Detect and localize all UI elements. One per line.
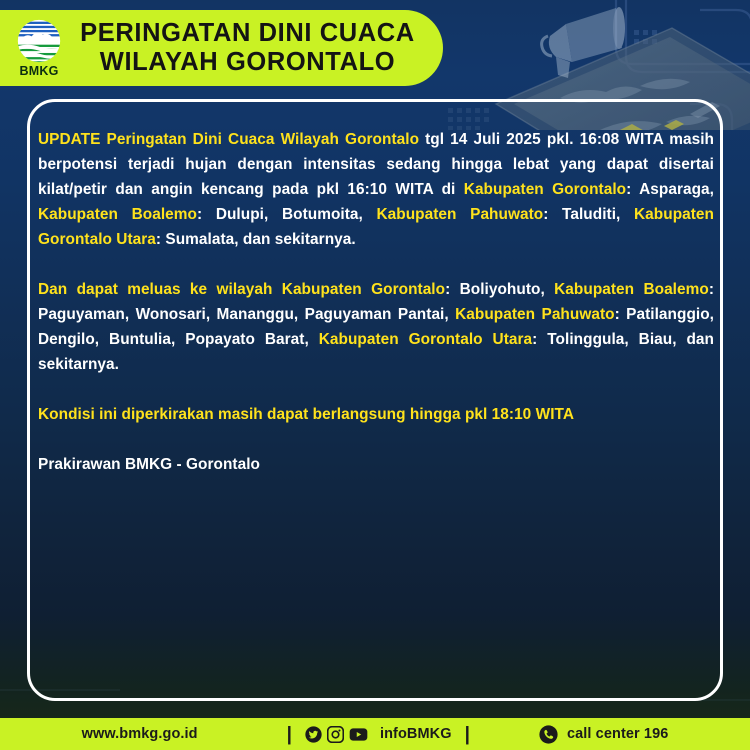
bmkg-logo-icon (16, 18, 62, 64)
body-text: : Asparaga, (626, 181, 714, 198)
weather-warning-poster: BMKG PERINGATAN DINI CUACA WILAYAH GORON… (0, 0, 750, 750)
warning-paragraph-2: Dan dapat meluas ke wilayah Kabupaten Go… (38, 277, 714, 377)
body-text: : Taluditi, (543, 206, 634, 223)
highlighted-text: Dan dapat meluas ke wilayah (38, 281, 282, 298)
footer-website-link[interactable]: www.bmkg.go.id (82, 726, 198, 742)
footer-separator-right: | (465, 725, 470, 744)
phone-icon (539, 725, 558, 744)
highlighted-text: Kabupaten Pahuwato (455, 306, 614, 323)
footer-social-group: infoBMKG (305, 726, 452, 743)
highlighted-text: Kondisi ini diperkirakan masih dapat ber… (38, 406, 574, 423)
page-title: PERINGATAN DINI CUACA WILAYAH GORONTALO (70, 19, 443, 77)
footer-separator-left: | (287, 725, 292, 744)
highlighted-text: Kabupaten Gorontalo (464, 181, 626, 198)
body-text: : Dulupi, Botumoita, (197, 206, 377, 223)
youtube-icon[interactable] (349, 726, 368, 743)
bmkg-logo-wordmark: BMKG (20, 65, 59, 78)
footer-bar: www.bmkg.go.id | infoBMKG | (0, 718, 750, 750)
twitter-icon[interactable] (305, 726, 322, 743)
body-text: Prakirawan BMKG - Gorontalo (38, 456, 260, 473)
highlighted-text: UPDATE Peringatan Dini Cuaca Wilayah Gor… (38, 131, 419, 148)
warning-message: UPDATE Peringatan Dini Cuaca Wilayah Gor… (38, 127, 714, 477)
page-title-line-2: WILAYAH GORONTALO (70, 48, 425, 77)
megaphone-icon (542, 7, 625, 78)
highlighted-text: Kabupaten Boalemo (554, 281, 709, 298)
instagram-icon[interactable] (327, 726, 344, 743)
page-title-line-1: PERINGATAN DINI CUACA (70, 19, 425, 48)
highlighted-text: Kabupaten Gorontalo (282, 281, 445, 298)
warning-paragraph-3: Kondisi ini diperkirakan masih dapat ber… (38, 402, 714, 427)
footer-social-handle[interactable]: infoBMKG (380, 726, 452, 742)
highlighted-text: Kabupaten Boalemo (38, 206, 197, 223)
footer-callcenter-group: call center 196 (539, 725, 668, 744)
highlighted-text: Kabupaten Gorontalo Utara (319, 331, 532, 348)
body-text: : Boliyohuto, (445, 281, 554, 298)
warning-signature: Prakirawan BMKG - Gorontalo (38, 452, 714, 477)
footer-callcenter-label[interactable]: call center 196 (567, 726, 668, 742)
warning-paragraph-1: UPDATE Peringatan Dini Cuaca Wilayah Gor… (38, 127, 714, 252)
bmkg-logo: BMKG (8, 18, 70, 78)
highlighted-text: Kabupaten Pahuwato (377, 206, 544, 223)
header-banner: BMKG PERINGATAN DINI CUACA WILAYAH GORON… (0, 10, 443, 86)
body-text: : Sumalata, dan sekitarnya. (156, 231, 356, 248)
